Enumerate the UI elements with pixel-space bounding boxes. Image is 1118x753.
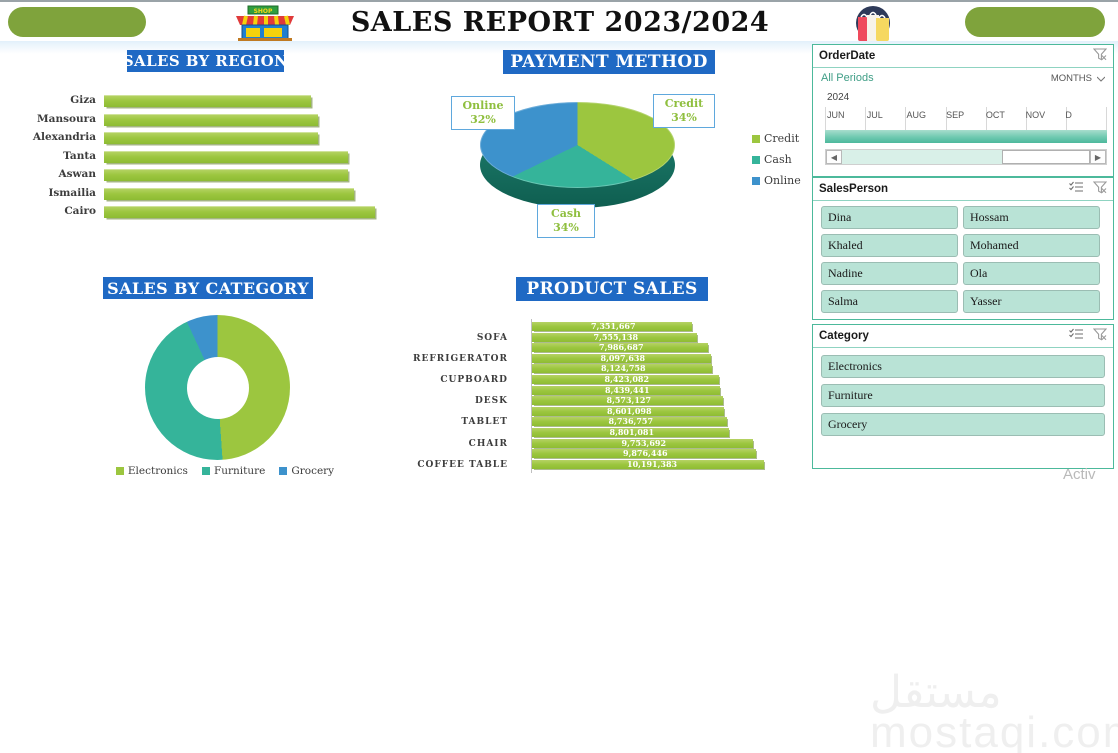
timeline-month: JUL <box>865 110 905 132</box>
region-label: Aswan <box>0 167 96 182</box>
slicer-tile-furniture[interactable]: Furniture <box>821 384 1105 407</box>
product-bar-value: 8,124,758 <box>601 363 646 373</box>
sales-by-category-chart[interactable]: Electronics Furniture Grocery <box>60 275 390 489</box>
product-bar-row: DESK8,573,127 <box>400 396 800 406</box>
timeline-month: AUG <box>904 110 944 132</box>
slicer-tile-dina[interactable]: Dina <box>821 206 958 229</box>
region-bar <box>104 114 318 126</box>
timeline-month: JUN <box>825 110 865 132</box>
timeline-month-scale: JUN JUL AUG SEP OCT NOV D <box>825 110 1103 132</box>
product-bar-row: 7,986,687 <box>400 343 800 353</box>
product-bar-row: 8,801,081 <box>400 428 800 438</box>
region-label: Cairo <box>0 204 96 219</box>
orderdate-timeline-slicer[interactable]: OrderDate All Periods MONTHS 2024 JUN JU… <box>812 44 1114 177</box>
pie-callout-cash: Cash 34% <box>537 204 595 238</box>
donut-graphic <box>145 315 290 460</box>
legend-label: Credit <box>764 132 799 145</box>
pie-callout-credit: Credit 34% <box>653 94 715 128</box>
slicer-tile-salma[interactable]: Salma <box>821 290 958 313</box>
category-legend: Electronics Furniture Grocery <box>90 465 360 477</box>
clear-filter-icon[interactable] <box>1093 328 1107 341</box>
slicer-tile-electronics[interactable]: Electronics <box>821 355 1105 378</box>
product-bar-row: TABLET8,736,757 <box>400 417 800 427</box>
clear-filter-icon[interactable] <box>1093 48 1107 61</box>
region-bar-row: Cairo <box>0 204 392 219</box>
timeline-title: OrderDate <box>819 50 875 62</box>
product-bar-row: REFRIGERATOR8,097,638 <box>400 354 800 364</box>
product-bar-value: 8,423,082 <box>605 374 650 384</box>
legend-swatch-grocery <box>279 467 287 475</box>
multi-select-icon[interactable] <box>1069 181 1084 194</box>
clear-filter-icon[interactable] <box>1093 181 1107 194</box>
slicer-tile-ola[interactable]: Ola <box>963 262 1100 285</box>
timeline-scrollbar[interactable]: ◀ ▶ <box>825 149 1107 165</box>
category-slicer-header: Category <box>813 325 1113 348</box>
product-bar-row: CUPBOARD8,423,082 <box>400 375 800 385</box>
timeline-month: SEP <box>944 110 984 132</box>
legend-item-electronics: Electronics <box>116 465 188 477</box>
salesperson-tile-grid: Dina Hossam Khaled Mohamed Nadine Ola Sa… <box>821 206 1105 313</box>
product-bar-value: 7,555,138 <box>594 332 639 342</box>
legend-label: Electronics <box>128 465 188 477</box>
slicer-tile-hossam[interactable]: Hossam <box>963 206 1100 229</box>
timeline-header: OrderDate <box>813 45 1113 68</box>
legend-swatch-online <box>752 177 760 185</box>
scroll-left-arrow-icon[interactable]: ◀ <box>826 150 842 164</box>
product-bar-row: CHAIR9,753,692 <box>400 439 800 449</box>
legend-item-grocery: Grocery <box>279 465 334 477</box>
legend-swatch-electronics <box>116 467 124 475</box>
header-left-banner <box>8 7 146 37</box>
legend-swatch-credit <box>752 135 760 143</box>
product-bar-row: 8,601,098 <box>400 407 800 417</box>
timeline-year-label: 2024 <box>827 92 849 103</box>
scroll-right-arrow-icon[interactable]: ▶ <box>1090 150 1106 164</box>
legend-swatch-furniture <box>202 467 210 475</box>
product-bar-row: 9,876,446 <box>400 449 800 459</box>
region-label: Mansoura <box>0 112 96 127</box>
category-slicer-title: Category <box>819 330 869 342</box>
product-label: SOFA <box>400 333 508 343</box>
salesperson-slicer[interactable]: SalesPerson Dina Hossam Khaled Mohamed N… <box>812 177 1114 320</box>
product-bar-value: 7,351,667 <box>591 321 636 331</box>
legend-label: Grocery <box>291 465 334 477</box>
scrollbar-track[interactable] <box>842 150 1090 164</box>
product-bar-value: 9,753,692 <box>622 438 667 448</box>
product-bar-value: 8,601,098 <box>607 406 652 416</box>
region-bar <box>104 132 318 144</box>
slicer-tile-khaled[interactable]: Khaled <box>821 234 958 257</box>
category-slicer[interactable]: Category Electronics Furniture Grocery <box>812 324 1114 469</box>
product-bar-row: SOFA7,555,138 <box>400 333 800 343</box>
callout-label: Cash <box>551 207 581 220</box>
callout-label: Credit <box>665 97 704 110</box>
legend-item-cash: Cash <box>752 149 801 170</box>
payment-method-chart[interactable]: Online 32% Credit 34% Cash 34% Credit Ca… <box>420 48 810 248</box>
multi-select-icon[interactable] <box>1069 328 1084 341</box>
timeline-level-label: MONTHS <box>1051 73 1092 84</box>
shop-storefront-icon: SHOP <box>228 5 302 41</box>
region-bar <box>104 188 354 200</box>
legend-swatch-cash <box>752 156 760 164</box>
region-label: Giza <box>0 93 96 108</box>
slicer-tile-yasser[interactable]: Yasser <box>963 290 1100 313</box>
region-bar-row: Giza <box>0 93 392 108</box>
timeline-period-label: All Periods <box>821 72 874 84</box>
payment-legend: Credit Cash Online <box>752 128 801 191</box>
callout-value: 32% <box>470 113 496 126</box>
category-tile-list: Electronics Furniture Grocery <box>821 355 1105 436</box>
region-bar <box>104 95 311 107</box>
timeline-month: OCT <box>984 110 1024 132</box>
callout-label: Online <box>463 99 504 112</box>
salesperson-title: SalesPerson <box>819 183 888 195</box>
salesperson-header: SalesPerson <box>813 178 1113 201</box>
region-bar <box>104 151 348 163</box>
product-label: DESK <box>400 396 508 406</box>
product-sales-chart[interactable]: مستقل mostaqi.com 7,351,667SOFA7,555,138… <box>400 275 800 489</box>
product-bar-value: 7,986,687 <box>599 342 644 352</box>
callout-value: 34% <box>553 221 579 234</box>
product-bar-row: COFFEE TABLE10,191,383 <box>400 460 800 470</box>
product-label: CHAIR <box>400 439 508 449</box>
timeline-selection-bar[interactable] <box>825 130 1107 143</box>
product-bar-value: 8,097,638 <box>601 353 646 363</box>
product-bar-value: 8,573,127 <box>607 395 652 405</box>
legend-item-furniture: Furniture <box>202 465 265 477</box>
timeline-month: D <box>1063 110 1103 132</box>
product-bar-value: 8,801,081 <box>610 427 655 437</box>
chevron-down-icon[interactable] <box>1097 76 1105 82</box>
product-label: REFRIGERATOR <box>400 354 508 364</box>
region-bar-row: Ismailia <box>0 186 392 201</box>
activate-windows-watermark: Activ <box>1063 466 1096 483</box>
timeline-level-selector[interactable]: MONTHS <box>1051 73 1105 84</box>
region-label: Alexandria <box>0 130 96 145</box>
product-bar-value: 10,191,383 <box>627 459 677 469</box>
slicer-tile-nadine[interactable]: Nadine <box>821 262 958 285</box>
product-label: TABLET <box>400 417 508 427</box>
region-label: Tanta <box>0 149 96 164</box>
site-watermark: مستقل mostaqi.com <box>870 673 1118 753</box>
region-bar <box>104 206 375 218</box>
legend-label: Cash <box>764 153 792 166</box>
header-right-banner <box>965 7 1105 37</box>
region-label: Ismailia <box>0 186 96 201</box>
legend-label: Furniture <box>214 465 265 477</box>
sales-by-region-chart[interactable]: GizaMansouraAlexandriaTantaAswanIsmailia… <box>0 48 392 233</box>
region-bar <box>104 169 348 181</box>
legend-item-online: Online <box>752 170 801 191</box>
dashboard-page: SHOP SALES REPORT 2023/2024 SALES BY REG… <box>0 0 1118 489</box>
region-bar-row: Alexandria <box>0 130 392 145</box>
slicer-tile-mohamed[interactable]: Mohamed <box>963 234 1100 257</box>
page-title: SALES REPORT 2023/2024 <box>300 3 820 41</box>
legend-item-credit: Credit <box>752 128 801 149</box>
product-bar-value: 9,876,446 <box>623 448 668 458</box>
product-bar-value: 8,736,757 <box>609 416 654 426</box>
product-bar-row: 8,124,758 <box>400 364 800 374</box>
svg-text:SHOP: SHOP <box>254 8 273 15</box>
product-label: COFFEE TABLE <box>400 460 508 470</box>
slicer-tile-grocery[interactable]: Grocery <box>821 413 1105 436</box>
product-label: CUPBOARD <box>400 375 508 385</box>
callout-value: 34% <box>671 111 697 124</box>
scrollbar-thumb[interactable] <box>1002 150 1090 164</box>
pie-callout-online: Online 32% <box>451 96 515 130</box>
region-bar-row: Tanta <box>0 149 392 164</box>
product-bar-row: 8,439,441 <box>400 386 800 396</box>
region-bar-row: Aswan <box>0 167 392 182</box>
legend-label: Online <box>764 174 801 187</box>
timeline-month: NOV <box>1024 110 1064 132</box>
product-bar-value: 8,439,441 <box>605 385 650 395</box>
shopping-bags-icon <box>855 5 891 41</box>
product-bar-row: 7,351,667 <box>400 322 800 332</box>
region-bar-row: Mansoura <box>0 112 392 127</box>
dashboard-header: SHOP SALES REPORT 2023/2024 <box>0 0 1118 41</box>
